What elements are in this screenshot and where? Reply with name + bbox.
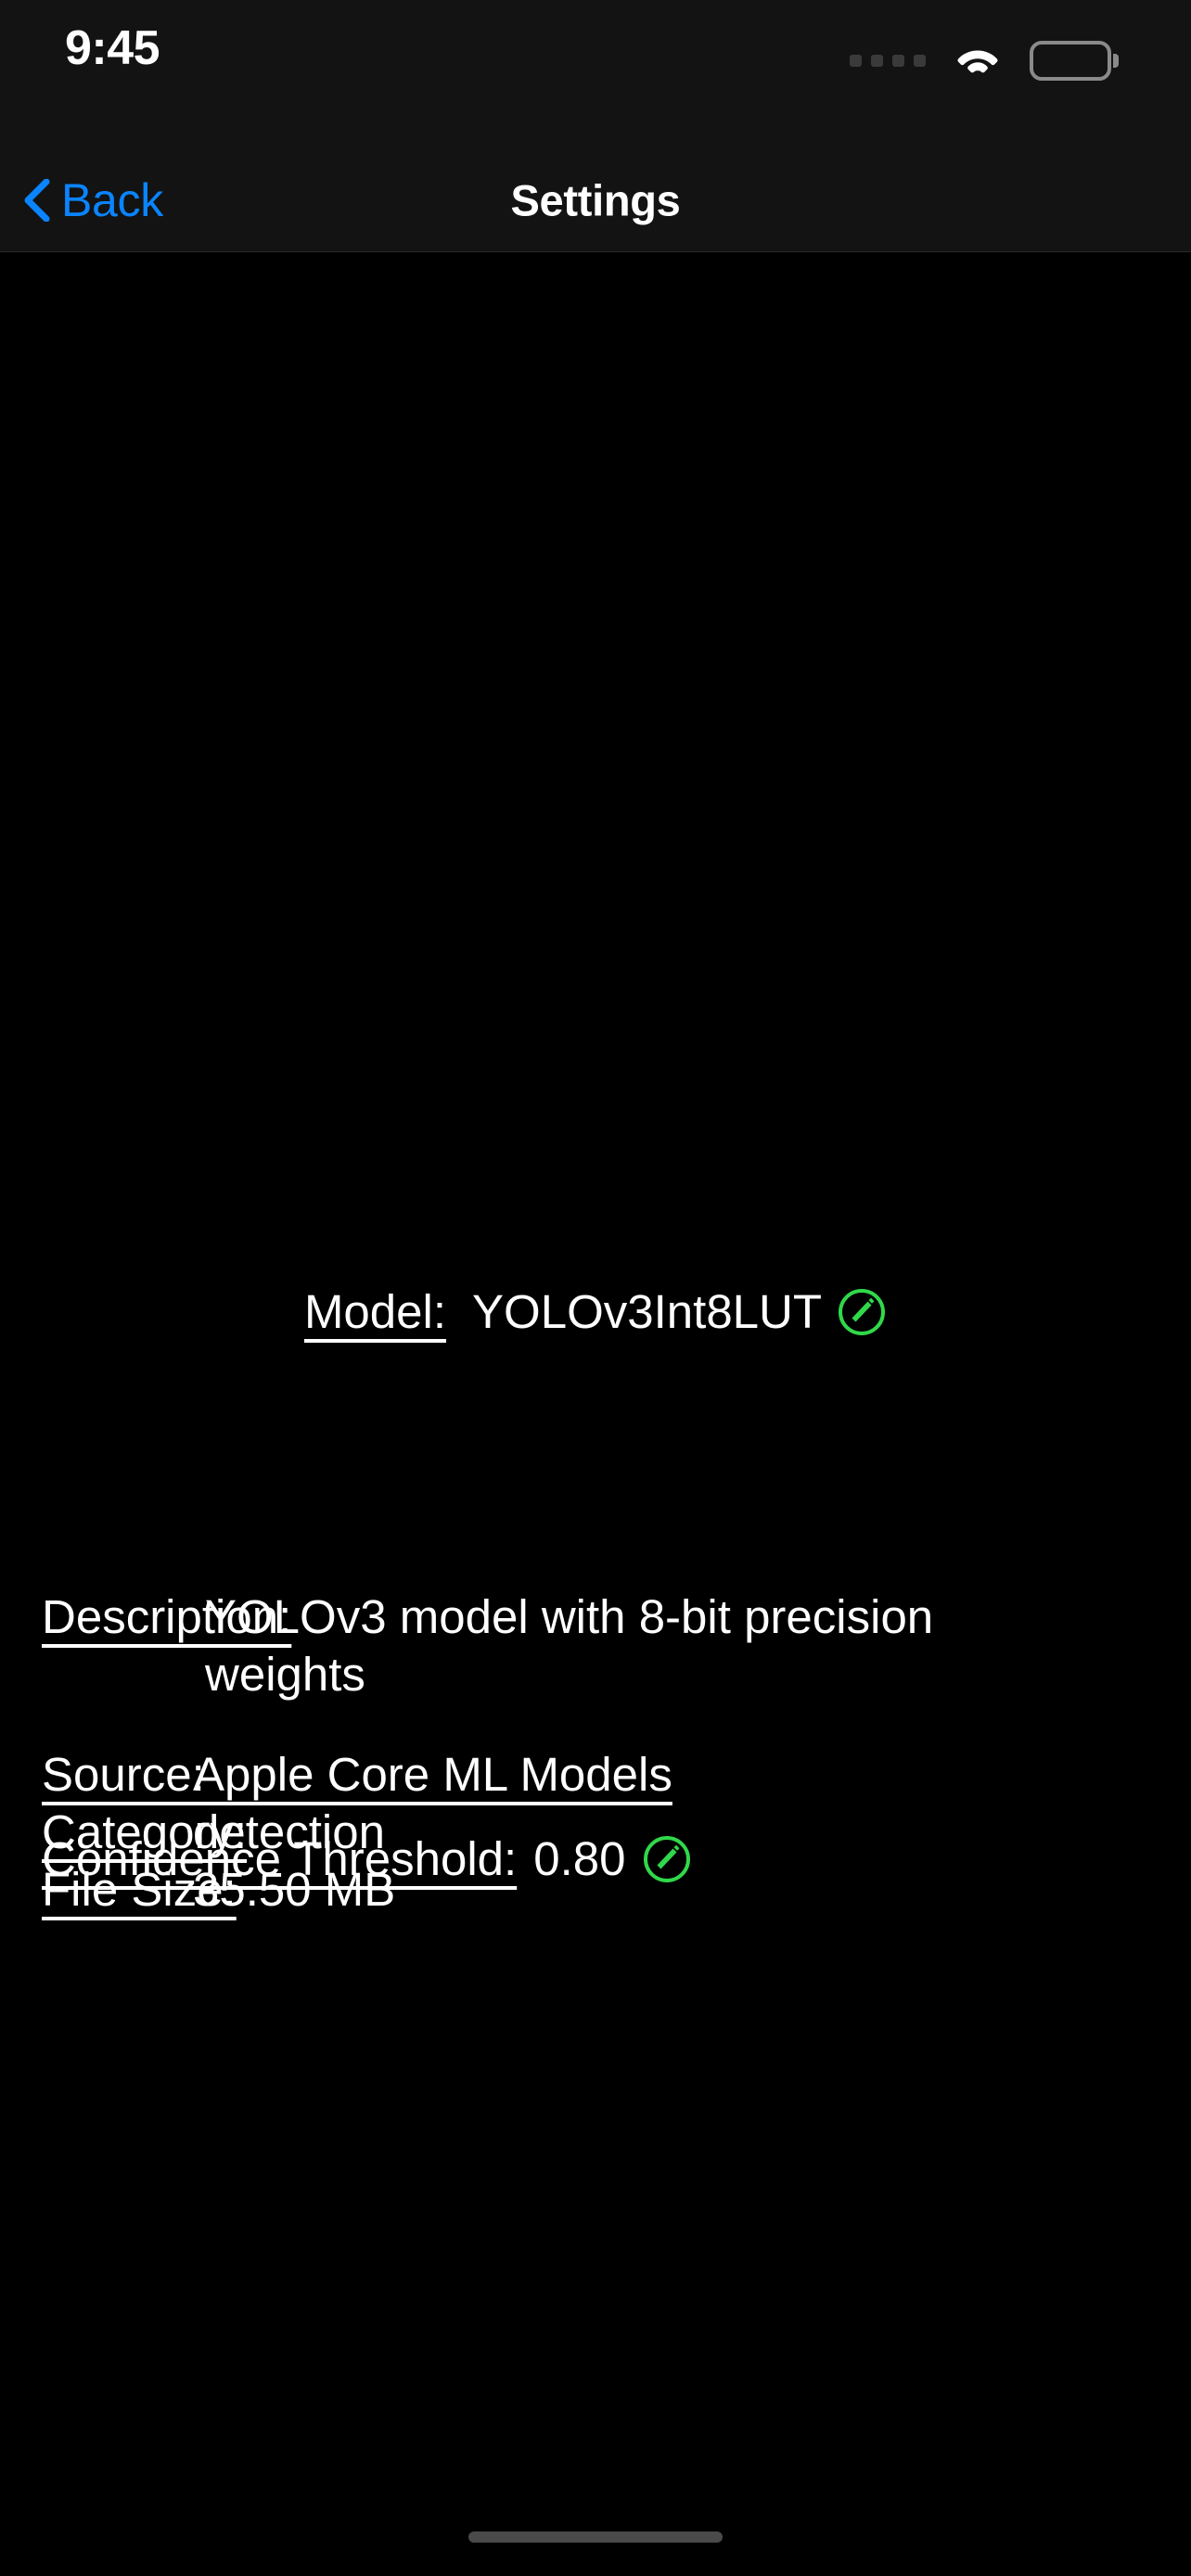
navigation-bar: Back Settings [0,148,1191,252]
confidence-threshold-label: Confidence Threshold: [42,1830,517,1889]
source-label: Source: [42,1746,193,1804]
settings-content: Model: YOLOv3Int8LUT Description: YOLOv3… [0,253,1191,2576]
wifi-icon [957,46,998,76]
model-row: Model: YOLOv3Int8LUT [0,1282,1191,1342]
phone-screen: 9:45 Back [0,0,1191,2576]
status-bar-indicators [850,41,1119,81]
confidence-edit-pencil-circle-icon[interactable] [642,1834,692,1884]
home-indicator[interactable] [468,2531,723,2543]
source-value-link[interactable]: Apple Core ML Models [193,1746,672,1804]
model-edit-pencil-circle-icon[interactable] [837,1287,887,1337]
description-value: YOLOv3 model with 8-bit precision weight… [205,1588,1049,1703]
detail-row-source: Source: Apple Core ML Models [42,1746,1155,1804]
description-label: Description: [42,1588,205,1646]
status-bar-time: 9:45 [65,20,160,76]
model-label: Model: [304,1282,446,1342]
cellular-dots-icon [850,55,926,67]
model-value: YOLOv3Int8LUT [472,1282,822,1342]
page-title: Settings [0,174,1191,225]
status-bar: 9:45 [0,0,1191,148]
confidence-threshold-value: 0.80 [533,1830,625,1889]
detail-row-description: Description: YOLOv3 model with 8-bit pre… [42,1588,1155,1703]
confidence-threshold-row: Confidence Threshold: 0.80 [42,1830,692,1889]
battery-full-icon [1030,41,1119,81]
